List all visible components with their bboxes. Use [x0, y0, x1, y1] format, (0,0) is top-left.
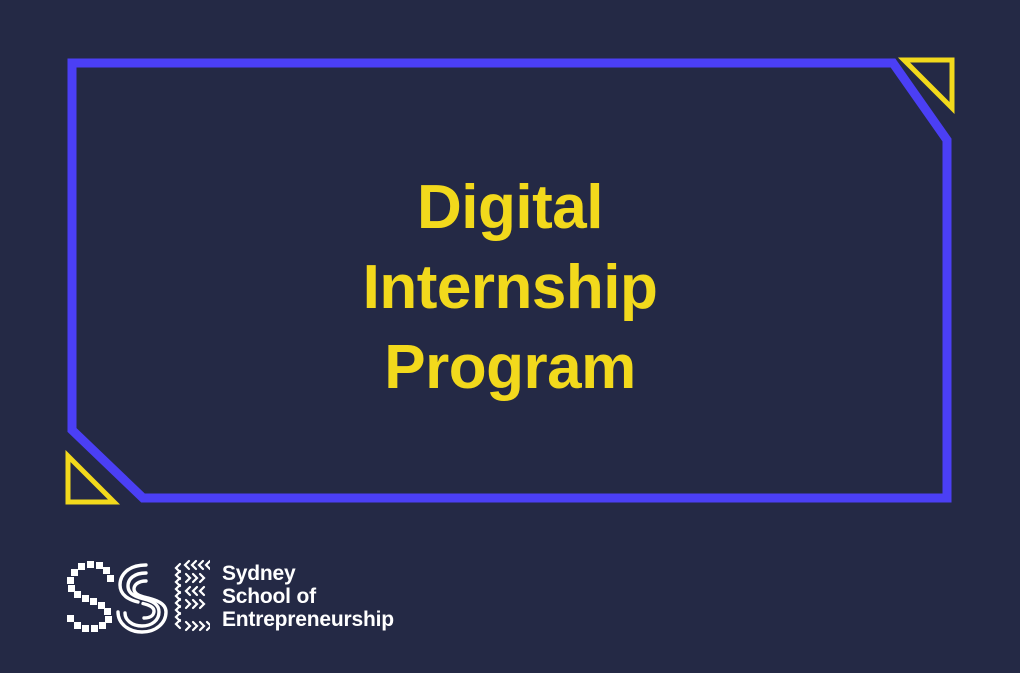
monogram-e-chevrons	[176, 561, 210, 630]
monogram-s-spiral	[118, 565, 166, 632]
page-title: Digital Internship Program	[0, 168, 1020, 408]
wordmark-line-1: Sydney	[222, 562, 394, 585]
slide-canvas: Digital Internship Program	[0, 0, 1020, 673]
wordmark-line-2: School of	[222, 585, 394, 608]
sse-wordmark: Sydney School of Entrepreneurship	[222, 562, 394, 631]
sse-monogram-icon	[58, 556, 210, 636]
title-line-3: Program	[0, 328, 1020, 408]
corner-triangle-top-right	[904, 60, 952, 108]
wordmark-line-3: Entrepreneurship	[222, 608, 394, 631]
corner-triangle-bottom-left	[68, 456, 114, 502]
title-line-1: Digital	[0, 168, 1020, 248]
sse-logo: Sydney School of Entrepreneurship	[58, 556, 394, 636]
monogram-s-dotted	[67, 561, 114, 632]
title-line-2: Internship	[0, 248, 1020, 328]
